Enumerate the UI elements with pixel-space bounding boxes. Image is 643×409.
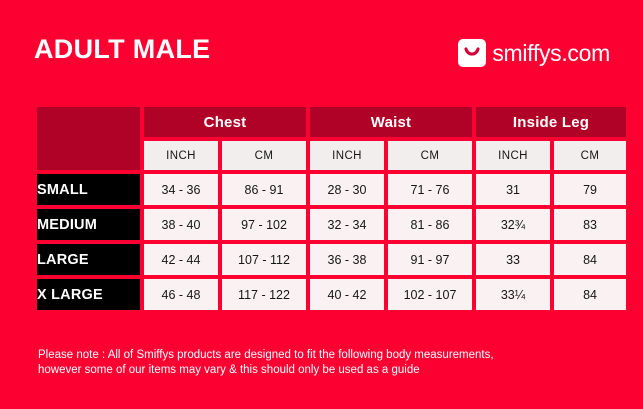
group-header-row: Chest Waist Inside Leg xyxy=(37,107,626,137)
cell-x-large-inside-leg-cm: 84 xyxy=(554,279,626,310)
cell-small-waist-cm: 71 - 76 xyxy=(388,174,472,205)
cell-large-chest-inch: 42 - 44 xyxy=(144,244,218,275)
footer-note-line-1: Please note : All of Smiffys products ar… xyxy=(38,348,608,363)
brand-logo[interactable]: smiffys.com xyxy=(458,38,610,68)
unit-header-chest-cm: CM xyxy=(222,141,306,170)
table-row: SMALL 34 - 36 86 - 91 28 - 30 71 - 76 31… xyxy=(37,174,626,205)
cell-large-waist-inch: 36 - 38 xyxy=(310,244,384,275)
unit-header-waist-inch: INCH xyxy=(310,141,384,170)
size-chart-page: ADULT MALE smiffys.com Chest Waist xyxy=(0,0,643,409)
size-label-large: LARGE xyxy=(37,244,140,275)
cell-small-inside-leg-inch: 31 xyxy=(476,174,550,205)
cell-x-large-inside-leg-inch: 33¼ xyxy=(476,279,550,310)
table-corner-cell xyxy=(37,107,140,170)
cell-small-chest-inch: 34 - 36 xyxy=(144,174,218,205)
table-row: X LARGE 46 - 48 117 - 122 40 - 42 102 - … xyxy=(37,279,626,310)
cell-x-large-chest-cm: 117 - 122 xyxy=(222,279,306,310)
footer-note-line-2: however some of our items may vary & thi… xyxy=(38,363,608,378)
table-row: MEDIUM 38 - 40 97 - 102 32 - 34 81 - 86 … xyxy=(37,209,626,240)
cell-medium-inside-leg-cm: 83 xyxy=(554,209,626,240)
cell-x-large-waist-inch: 40 - 42 xyxy=(310,279,384,310)
unit-header-chest-inch: INCH xyxy=(144,141,218,170)
cell-medium-chest-cm: 97 - 102 xyxy=(222,209,306,240)
table-row: LARGE 42 - 44 107 - 112 36 - 38 91 - 97 … xyxy=(37,244,626,275)
chart-header: ADULT MALE smiffys.com xyxy=(0,0,643,96)
cell-medium-waist-inch: 32 - 34 xyxy=(310,209,384,240)
brand-name: smiffys.com xyxy=(492,39,610,67)
cell-medium-waist-cm: 81 - 86 xyxy=(388,209,472,240)
unit-header-waist-cm: CM xyxy=(388,141,472,170)
cell-x-large-chest-inch: 46 - 48 xyxy=(144,279,218,310)
group-header-inside-leg: Inside Leg xyxy=(476,107,626,137)
cell-large-chest-cm: 107 - 112 xyxy=(222,244,306,275)
cell-large-inside-leg-inch: 33 xyxy=(476,244,550,275)
cell-medium-inside-leg-inch: 32¾ xyxy=(476,209,550,240)
size-chart-table: Chest Waist Inside Leg INCH CM INCH CM I… xyxy=(33,103,630,314)
cell-x-large-waist-cm: 102 - 107 xyxy=(388,279,472,310)
footer-note: Please note : All of Smiffys products ar… xyxy=(38,348,608,378)
group-header-chest: Chest xyxy=(144,107,306,137)
cell-large-waist-cm: 91 - 97 xyxy=(388,244,472,275)
size-label-x-large: X LARGE xyxy=(37,279,140,310)
unit-header-inside-leg-inch: INCH xyxy=(476,141,550,170)
size-label-medium: MEDIUM xyxy=(37,209,140,240)
unit-header-inside-leg-cm: CM xyxy=(554,141,626,170)
cell-medium-chest-inch: 38 - 40 xyxy=(144,209,218,240)
cell-small-inside-leg-cm: 79 xyxy=(554,174,626,205)
cell-small-chest-cm: 86 - 91 xyxy=(222,174,306,205)
cell-large-inside-leg-cm: 84 xyxy=(554,244,626,275)
smile-mark-icon xyxy=(458,39,486,67)
group-header-waist: Waist xyxy=(310,107,472,137)
size-label-small: SMALL xyxy=(37,174,140,205)
page-title: ADULT MALE xyxy=(34,33,210,65)
cell-small-waist-inch: 28 - 30 xyxy=(310,174,384,205)
